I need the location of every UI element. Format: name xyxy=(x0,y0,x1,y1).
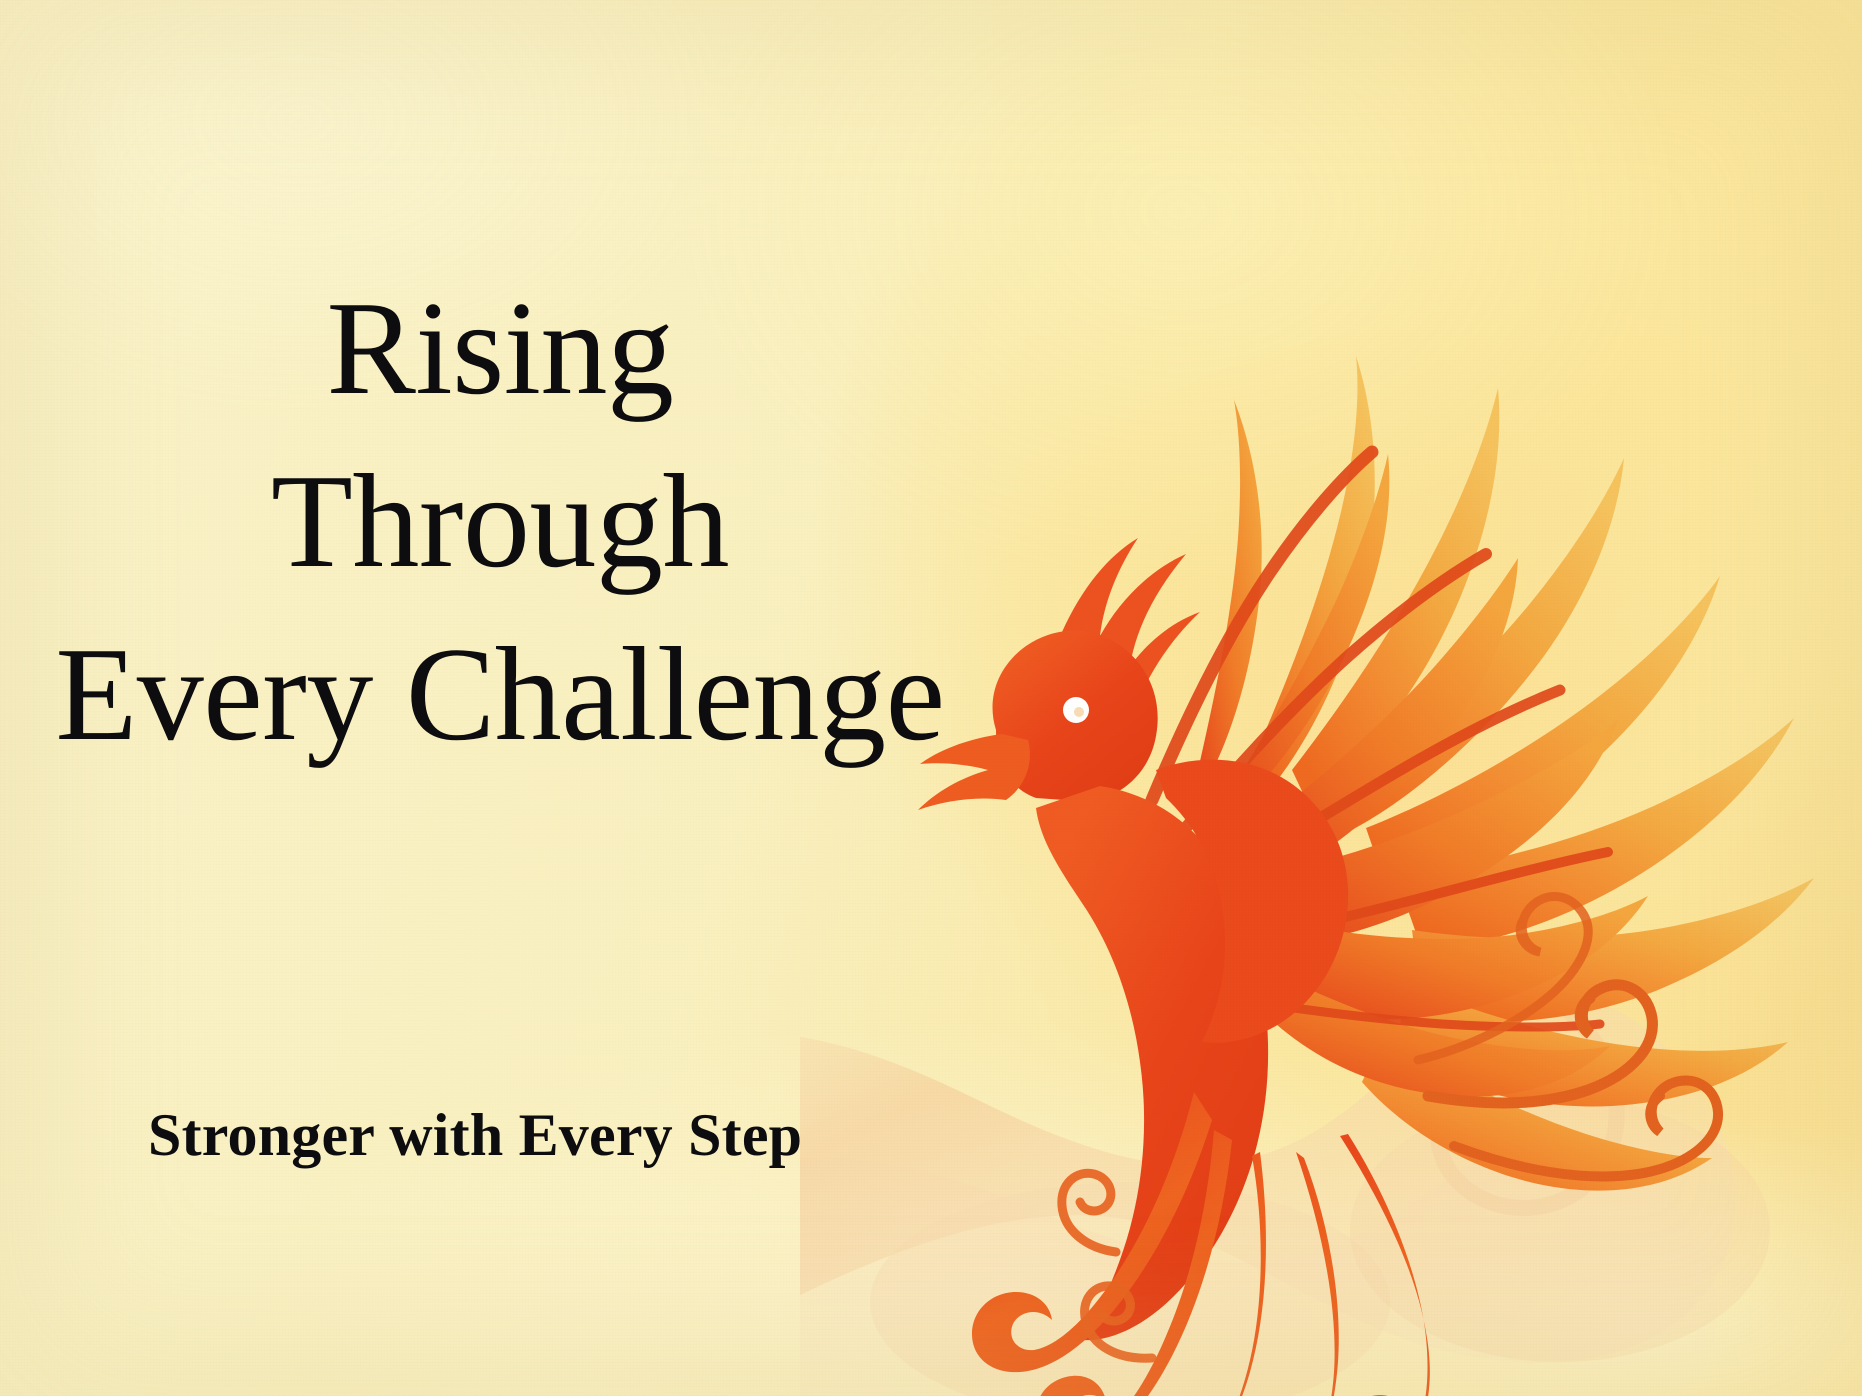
title-line-1: Rising xyxy=(0,262,1000,435)
page-subtitle: Stronger with Every Step xyxy=(148,1102,802,1168)
title-line-2: Through xyxy=(0,435,1000,608)
wing-mid-feathers xyxy=(1198,400,1648,1097)
tail-curls xyxy=(1418,896,1718,1176)
tail-accent-curls xyxy=(1062,1173,1152,1358)
page-title: Rising Through Every Challenge xyxy=(0,262,1000,781)
title-line-3: Every Challenge xyxy=(0,608,1000,781)
wing-coverts xyxy=(1152,452,1608,1027)
tail-feathers xyxy=(972,1092,1430,1396)
smoke-wisps xyxy=(800,954,1770,1396)
title-slide: Rising Through Every Challenge Stronger … xyxy=(0,0,1862,1396)
wing-outer-feathers xyxy=(1255,356,1814,1191)
